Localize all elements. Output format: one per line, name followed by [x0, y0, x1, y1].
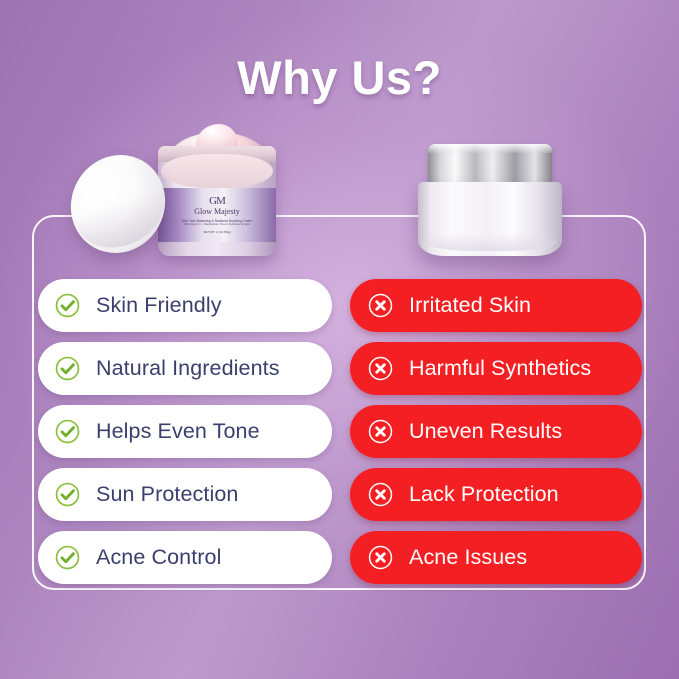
check-circle-icon — [54, 544, 81, 571]
comparison-row: Natural Ingredients Harmful Synthetics — [0, 342, 679, 405]
drawback-pill[interactable]: Lack Protection — [350, 468, 642, 521]
jar-base — [158, 242, 276, 256]
comparison-rows: Skin Friendly Irritated Skin Natural I — [0, 279, 679, 594]
drawback-label: Harmful Synthetics — [409, 356, 591, 381]
brand-monogram: GM — [209, 196, 225, 207]
page-title: Why Us? — [0, 50, 679, 105]
competitor-jar-body — [418, 182, 562, 256]
check-circle-icon — [54, 418, 81, 445]
comparison-row: Helps Even Tone Uneven Results — [0, 405, 679, 468]
comparison-row: Sun Protection Lack Protection — [0, 468, 679, 531]
benefit-pill[interactable]: Helps Even Tone — [38, 405, 332, 458]
benefit-label: Skin Friendly — [96, 293, 222, 318]
x-circle-icon — [367, 544, 394, 571]
drawback-label: Irritated Skin — [409, 293, 531, 318]
x-circle-icon — [367, 292, 394, 319]
jar-inner-cream — [161, 154, 273, 188]
product-image-competitor — [412, 144, 568, 258]
competitor-jar-lid — [428, 144, 552, 184]
infographic-canvas: Why Us? GM Glow Majesty Skin Tone Balanc… — [0, 0, 679, 679]
drawback-label: Uneven Results — [409, 419, 562, 444]
drawback-pill[interactable]: Acne Issues — [350, 531, 642, 584]
comparison-row: Skin Friendly Irritated Skin — [0, 279, 679, 342]
benefit-pill[interactable]: Sun Protection — [38, 468, 332, 521]
drawback-label: Acne Issues — [409, 545, 527, 570]
benefit-pill[interactable]: Acne Control — [38, 531, 332, 584]
label-net-weight: NET WT. 2 OZ (50g) — [203, 230, 230, 234]
x-circle-icon — [367, 355, 394, 382]
x-circle-icon — [367, 418, 394, 445]
benefit-label: Sun Protection — [96, 482, 238, 507]
benefit-label: Helps Even Tone — [96, 419, 260, 444]
label-subtext: With Vitamin C + Niacinamide, Shea & Sun… — [184, 223, 251, 226]
jar-body: GM Glow Majesty Skin Tone Balancing & Ra… — [158, 146, 276, 256]
check-circle-icon — [54, 292, 81, 319]
jar-label: GM Glow Majesty Skin Tone Balancing & Ra… — [158, 188, 276, 242]
benefit-pill[interactable]: Natural Ingredients — [38, 342, 332, 395]
drawback-label: Lack Protection — [409, 482, 559, 507]
product-image-glow-majesty: GM Glow Majesty Skin Tone Balancing & Ra… — [70, 128, 285, 258]
drawback-pill[interactable]: Irritated Skin — [350, 279, 642, 332]
benefit-pill[interactable]: Skin Friendly — [38, 279, 332, 332]
x-circle-icon — [367, 481, 394, 508]
benefit-label: Natural Ingredients — [96, 356, 280, 381]
drawback-pill[interactable]: Uneven Results — [350, 405, 642, 458]
brand-name: Glow Majesty — [194, 208, 240, 217]
check-circle-icon — [54, 481, 81, 508]
check-circle-icon — [54, 355, 81, 382]
drawback-pill[interactable]: Harmful Synthetics — [350, 342, 642, 395]
comparison-row: Acne Control Acne Issues — [0, 531, 679, 594]
benefit-label: Acne Control — [96, 545, 222, 570]
